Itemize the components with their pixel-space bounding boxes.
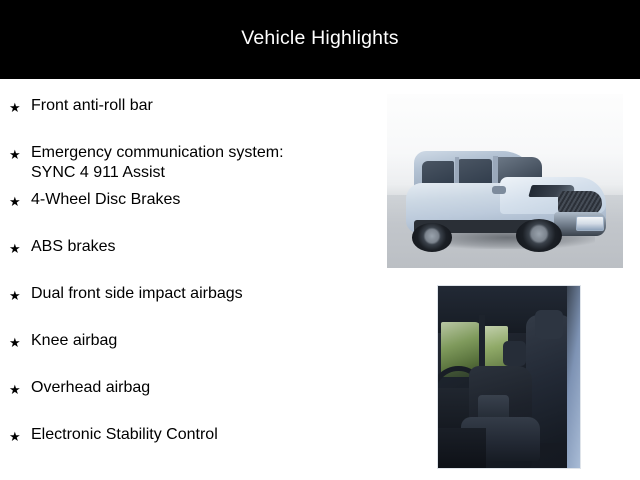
list-item: ★ 4-Wheel Disc Brakes [0, 173, 380, 220]
content-area: ★ Front anti-roll bar ★ Emergency commun… [0, 79, 640, 480]
list-item: ★ ABS brakes [0, 220, 380, 267]
list-item: ★ Emergency communication system: SYNC 4… [0, 126, 380, 173]
star-bullet-icon: ★ [9, 408, 31, 447]
list-item-label: ABS brakes [31, 220, 380, 257]
list-item-label: 4-Wheel Disc Brakes [31, 173, 380, 210]
interior-door-panel [567, 286, 580, 468]
interior-floor-mat [438, 428, 486, 468]
star-bullet-icon: ★ [9, 267, 31, 306]
interior-passenger-headrest [535, 310, 563, 339]
star-bullet-icon: ★ [9, 220, 31, 259]
list-item: ★ Overhead airbag [0, 361, 380, 408]
header-bar: Vehicle Highlights [0, 0, 640, 79]
vehicle-exterior-photo [387, 94, 623, 268]
star-bullet-icon: ★ [9, 126, 31, 165]
star-bullet-icon: ★ [9, 79, 31, 118]
list-item-label: Electronic Stability Control [31, 408, 380, 445]
list-item-label: Overhead airbag [31, 361, 380, 398]
interior-driver-headrest [503, 341, 526, 366]
vehicle-interior-photo [437, 285, 581, 469]
star-bullet-icon: ★ [9, 314, 31, 353]
list-item: ★ Electronic Stability Control [0, 408, 380, 455]
list-item: ★ Dual front side impact airbags [0, 267, 380, 314]
list-item: ★ Front anti-roll bar [0, 79, 380, 126]
list-item-label: Knee airbag [31, 314, 380, 351]
vehicle-body-illustration [406, 151, 607, 243]
vehicle-license-plate [576, 216, 604, 231]
list-item-label: Front anti-roll bar [31, 79, 380, 116]
star-bullet-icon: ★ [9, 173, 31, 212]
vehicle-front-wheel [516, 219, 562, 252]
list-item-label: Dual front side impact airbags [31, 267, 380, 304]
page-title: Vehicle Highlights [241, 29, 399, 51]
vehicle-rear-wheel [412, 223, 452, 252]
vehicle-side-mirror [492, 186, 506, 193]
star-bullet-icon: ★ [9, 361, 31, 400]
vehicle-highlights-list: ★ Front anti-roll bar ★ Emergency commun… [0, 79, 380, 455]
list-item: ★ Knee airbag [0, 314, 380, 361]
